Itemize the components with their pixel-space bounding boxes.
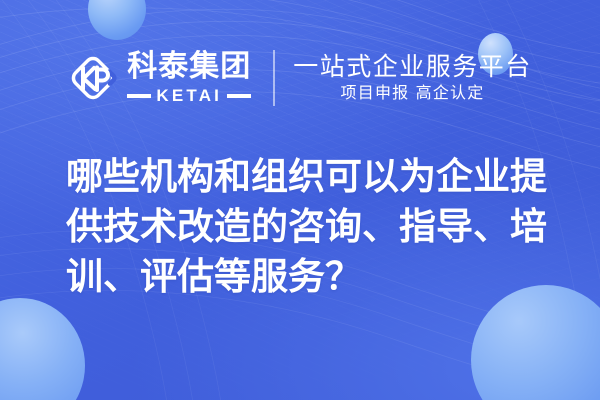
logo-english-row: KETAI xyxy=(127,87,251,104)
promo-banner: 科泰集团 KETAI 一站式企业服务平台 项目申报 高企认定 哪些机构和组织可以… xyxy=(0,0,600,400)
header-divider xyxy=(273,50,275,106)
logo-rule-right xyxy=(227,94,251,98)
company-logo[interactable]: 科泰集团 KETAI xyxy=(68,52,251,104)
banner-header: 科泰集团 KETAI 一站式企业服务平台 项目申报 高企认定 xyxy=(0,42,600,114)
logo-rule-left xyxy=(127,94,151,98)
page-title: 哪些机构和组织可以为企业提供技术改造的咨询、指导、培训、评估等服务？ xyxy=(66,152,552,302)
logo-wordmark: 科泰集团 KETAI xyxy=(127,52,251,104)
slogan-block: 一站式企业服务平台 项目申报 高企认定 xyxy=(293,53,532,102)
logo-company-name-en: KETAI xyxy=(156,87,222,104)
ketai-diamond-kp-monogram-icon xyxy=(68,53,118,103)
slogan-primary: 一站式企业服务平台 xyxy=(293,53,532,81)
logo-company-name-cn: 科泰集团 xyxy=(127,52,251,82)
slogan-secondary: 项目申报 高企认定 xyxy=(293,84,532,102)
